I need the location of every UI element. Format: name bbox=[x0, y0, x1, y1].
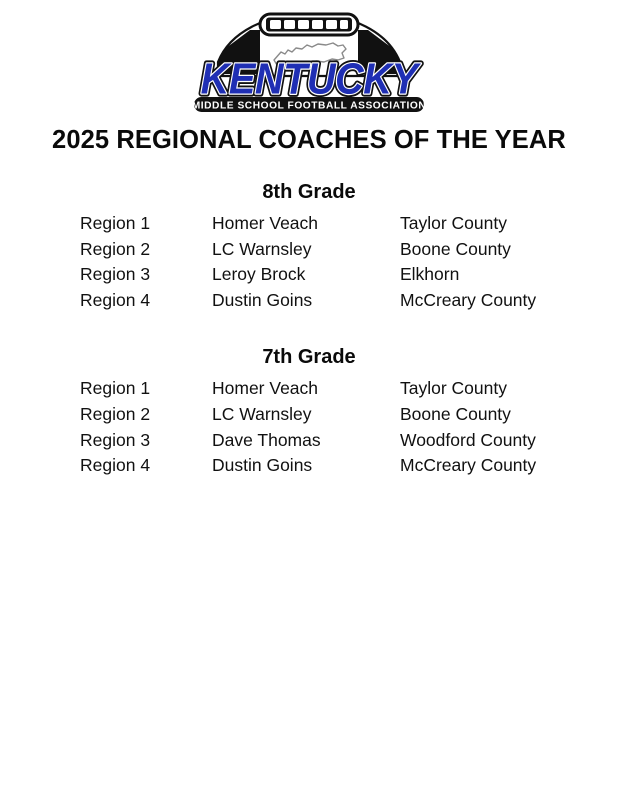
table-row: Region 1 Homer Veach Taylor County bbox=[0, 376, 618, 402]
region-label: Region 1 bbox=[0, 211, 212, 237]
association-banner: MIDDLE SCHOOL FOOTBALL ASSOCIATION bbox=[192, 97, 427, 112]
table-row: Region 3 Leroy Brock Elkhorn bbox=[0, 262, 618, 288]
table-row: Region 4 Dustin Goins McCreary County bbox=[0, 288, 618, 314]
section-heading: 8th Grade bbox=[0, 180, 618, 204]
coach-name: Dustin Goins bbox=[212, 288, 400, 314]
region-label: Region 3 bbox=[0, 428, 212, 454]
school-name: Elkhorn bbox=[400, 262, 618, 288]
table-row: Region 4 Dustin Goins McCreary County bbox=[0, 453, 618, 479]
school-name: Taylor County bbox=[400, 211, 618, 237]
region-label: Region 2 bbox=[0, 402, 212, 428]
region-label: Region 4 bbox=[0, 453, 212, 479]
coach-name: Homer Veach bbox=[212, 376, 400, 402]
section-heading: 7th Grade bbox=[0, 345, 618, 369]
page-title: 2025 REGIONAL COACHES OF THE YEAR bbox=[0, 126, 618, 154]
region-label: Region 4 bbox=[0, 288, 212, 314]
school-name: Boone County bbox=[400, 237, 618, 263]
school-name: Woodford County bbox=[400, 428, 618, 454]
table-row: Region 2 LC Warnsley Boone County bbox=[0, 402, 618, 428]
svg-text:KENTUCKY: KENTUCKY bbox=[201, 54, 421, 103]
school-name: Boone County bbox=[400, 402, 618, 428]
section-7th-grade: 7th Grade Region 1 Homer Veach Taylor Co… bbox=[0, 345, 618, 478]
coach-name: LC Warnsley bbox=[212, 402, 400, 428]
coach-name: Dustin Goins bbox=[212, 453, 400, 479]
school-name: McCreary County bbox=[400, 453, 618, 479]
coaches-list: Region 1 Homer Veach Taylor County Regio… bbox=[0, 376, 618, 478]
region-label: Region 3 bbox=[0, 262, 212, 288]
page-whitespace bbox=[0, 479, 618, 809]
table-row: Region 2 LC Warnsley Boone County bbox=[0, 237, 618, 263]
region-label: Region 2 bbox=[0, 237, 212, 263]
coaches-list: Region 1 Homer Veach Taylor County Regio… bbox=[0, 211, 618, 313]
table-row: Region 1 Homer Veach Taylor County bbox=[0, 211, 618, 237]
coach-name: Leroy Brock bbox=[212, 262, 400, 288]
kentucky-msfa-logo: KENTUCKY KENTUCKY KENTUCKY MIDDLE SCHOOL… bbox=[178, 8, 440, 116]
svg-text:MIDDLE SCHOOL FOOTBALL ASSOCIA: MIDDLE SCHOOL FOOTBALL ASSOCIATION bbox=[192, 100, 427, 111]
region-label: Region 1 bbox=[0, 376, 212, 402]
coach-name: Homer Veach bbox=[212, 211, 400, 237]
school-name: Taylor County bbox=[400, 376, 618, 402]
logo-header: KENTUCKY KENTUCKY KENTUCKY MIDDLE SCHOOL… bbox=[0, 0, 618, 112]
coach-name: LC Warnsley bbox=[212, 237, 400, 263]
table-row: Region 3 Dave Thomas Woodford County bbox=[0, 428, 618, 454]
coach-name: Dave Thomas bbox=[212, 428, 400, 454]
facemask-icon bbox=[260, 14, 358, 35]
school-name: McCreary County bbox=[400, 288, 618, 314]
section-8th-grade: 8th Grade Region 1 Homer Veach Taylor Co… bbox=[0, 180, 618, 313]
kentucky-wordmark: KENTUCKY KENTUCKY KENTUCKY bbox=[201, 54, 421, 103]
